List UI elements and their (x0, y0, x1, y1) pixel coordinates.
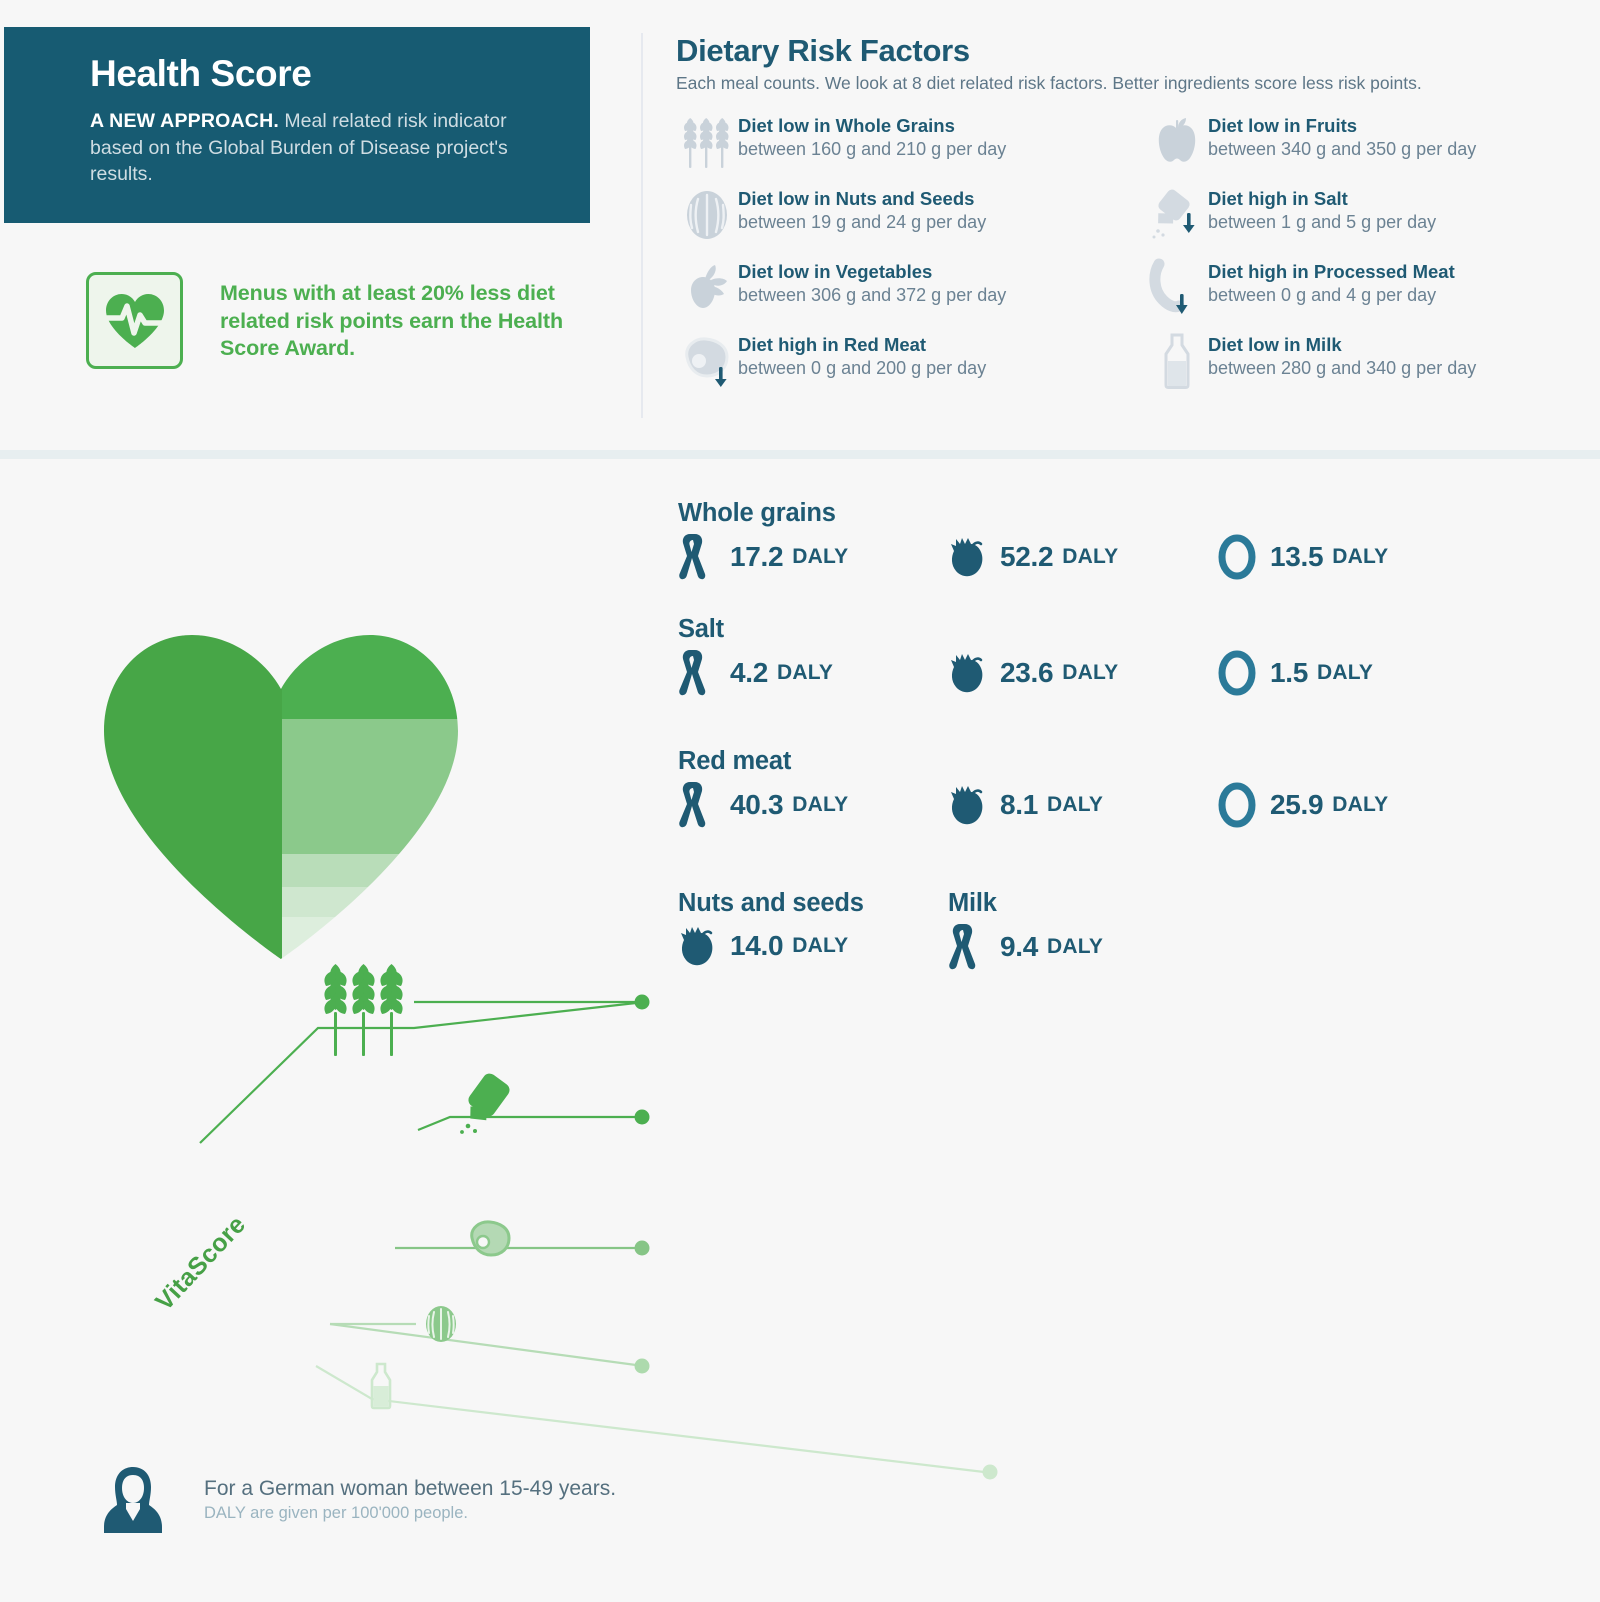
daly-group-red-meat: Red meat 40.3 DALY 8.1 DALY (678, 747, 1488, 828)
risk-factor-name: Diet low in Fruits (1208, 115, 1476, 137)
daly-row: 17.2 DALY 52.2 DALY 13.5 DALY (678, 534, 1488, 580)
daly-value: 40.3 (730, 789, 783, 821)
diabetes-ring-icon (1218, 534, 1264, 580)
daly-cell-cardiovascular: 52.2 DALY (948, 535, 1218, 579)
milk-bottle-icon-green (372, 1364, 390, 1408)
risk-factor-name: Diet low in Vegetables (738, 261, 1006, 283)
daly-group-label: Milk (948, 889, 1218, 918)
risk-factor-text: Diet high in Salt between 1 g and 5 g pe… (1208, 184, 1436, 234)
daly-unit: DALY (1332, 545, 1388, 569)
daly-unit: DALY (777, 661, 833, 685)
risk-factor-item: Diet high in Red Meat between 0 g and 20… (676, 330, 1146, 403)
daly-unit: DALY (792, 545, 848, 569)
daly-group-label: Salt (678, 615, 1488, 644)
vitascore-section: VitaScore (0, 459, 1600, 1143)
daly-group-milk: Milk 9.4 DALY (948, 889, 1218, 970)
dietary-risk-factors-title: Dietary Risk Factors (676, 33, 1576, 69)
heart-icon (948, 783, 994, 827)
daly-group-label: Nuts and seeds (678, 889, 948, 918)
heart-pulse-icon (104, 293, 166, 349)
infographic-page: Health Score A NEW APPROACH. Meal relate… (0, 0, 1600, 1143)
risk-factor-name: Diet high in Red Meat (738, 334, 986, 356)
daly-value: 17.2 (730, 541, 783, 573)
daly-cell-cardiovascular: 23.6 DALY (948, 651, 1218, 695)
daly-value: 9.4 (1000, 931, 1038, 963)
connector-whole-grains (200, 1003, 636, 1143)
risk-factor-range: between 340 g and 350 g per day (1208, 138, 1476, 161)
vertical-divider (641, 33, 643, 418)
down-arrow-icon (1183, 213, 1195, 233)
daly-value: 1.5 (1270, 657, 1308, 689)
daly-unit: DALY (792, 793, 848, 817)
page-title: Health Score (90, 55, 556, 94)
daly-value: 52.2 (1000, 541, 1053, 573)
risk-factor-range: between 280 g and 340 g per day (1208, 357, 1476, 380)
daly-cell-cancer: 9.4 DALY (948, 924, 1218, 970)
daly-group-salt: Salt 4.2 DALY 23.6 DALY (678, 615, 1488, 696)
heart-band-whole-grains (282, 627, 466, 719)
heart-band-red-meat (282, 854, 466, 887)
footer-note: For a German woman between 15-49 years. … (96, 1461, 616, 1540)
risk-factor-name: Diet low in Nuts and Seeds (738, 188, 986, 210)
risk-factor-text: Diet low in Nuts and Seeds between 19 g … (738, 184, 986, 234)
footer-line-1: For a German woman between 15-49 years. (204, 1476, 616, 1501)
daly-cell-cancer: 4.2 DALY (678, 650, 948, 696)
risk-factor-column-left: Diet low in Whole Grains between 160 g a… (676, 111, 1146, 403)
award-text: Menus with at least 20% less diet relate… (220, 280, 590, 363)
heart-icon (948, 651, 994, 695)
daly-cell-diabetes: 13.5 DALY (1218, 534, 1488, 580)
risk-factor-name: Diet low in Milk (1208, 334, 1476, 356)
walnut-icon (676, 184, 738, 246)
health-score-panel: Health Score A NEW APPROACH. Meal relate… (4, 27, 590, 223)
daly-group-whole-grains: Whole grains 17.2 DALY 52.2 DALY (678, 499, 1488, 580)
daly-cell-cancer: 17.2 DALY (678, 534, 948, 580)
risk-factor-range: between 0 g and 200 g per day (738, 357, 986, 380)
risk-factor-text: Diet low in Fruits between 340 g and 350… (1208, 111, 1476, 161)
saltshaker-icon (1146, 184, 1208, 246)
connector-dot-salt (635, 1110, 650, 1125)
daly-cell-diabetes: 25.9 DALY (1218, 782, 1488, 828)
health-score-award: Menus with at least 20% less diet relate… (86, 272, 590, 369)
risk-factor-range: between 1 g and 5 g per day (1208, 211, 1436, 234)
vitascore-heart-chart (96, 627, 466, 967)
connector-salt (418, 1117, 636, 1130)
risk-factor-text: Diet low in Whole Grains between 160 g a… (738, 111, 1006, 161)
daly-cell-cardiovascular: 14.0 DALY (678, 924, 948, 968)
connector-milk (316, 1366, 984, 1472)
award-badge (86, 272, 183, 369)
diabetes-ring-icon (1218, 650, 1264, 696)
daly-unit: DALY (1062, 661, 1118, 685)
daly-value: 8.1 (1000, 789, 1038, 821)
daly-group-nuts-seeds: Nuts and seeds 14.0 DALY (678, 889, 948, 968)
dietary-risk-factors-subtitle: Each meal counts. We look at 8 diet rela… (676, 73, 1576, 95)
steak-icon (676, 330, 738, 392)
daly-value: 25.9 (1270, 789, 1323, 821)
milk-bottle-icon (1146, 330, 1208, 392)
daly-value: 14.0 (730, 930, 783, 962)
daly-unit: DALY (1332, 793, 1388, 817)
risk-factor-text: Diet high in Processed Meat between 0 g … (1208, 257, 1455, 307)
daly-unit: DALY (1062, 545, 1118, 569)
daly-value: 23.6 (1000, 657, 1053, 689)
risk-factor-item: Diet high in Processed Meat between 0 g … (1146, 257, 1566, 330)
risk-factor-item: Diet low in Milk between 280 g and 340 g… (1146, 330, 1566, 403)
heart-left-half (96, 627, 282, 967)
risk-factor-text: Diet high in Red Meat between 0 g and 20… (738, 330, 986, 380)
wheat-icon-green (324, 964, 402, 1056)
risk-factor-range: between 19 g and 24 g per day (738, 211, 986, 234)
connector-nuts-seeds (330, 1324, 636, 1365)
heart-band-milk (282, 917, 466, 967)
daly-unit: DALY (1317, 661, 1373, 685)
risk-factor-text: Diet low in Milk between 280 g and 340 g… (1208, 330, 1476, 380)
risk-factor-item: Diet low in Fruits between 340 g and 350… (1146, 111, 1566, 184)
risk-factor-item: Diet low in Vegetables between 306 g and… (676, 257, 1146, 330)
connector-dot-whole-grains (635, 995, 650, 1010)
daly-unit: DALY (792, 934, 848, 958)
daly-value: 13.5 (1270, 541, 1323, 573)
risk-factor-range: between 0 g and 4 g per day (1208, 284, 1455, 307)
risk-factor-name: Diet low in Whole Grains (738, 115, 1006, 137)
footer-line-2: DALY are given per 100'000 people. (204, 1503, 616, 1524)
daly-row: 9.4 DALY (948, 924, 1218, 970)
health-score-description: A NEW APPROACH. Meal related risk indica… (90, 108, 556, 188)
risk-factor-range: between 306 g and 372 g per day (738, 284, 1006, 307)
walnut-icon-green (426, 1306, 456, 1342)
daly-cell-cancer: 40.3 DALY (678, 782, 948, 828)
saltshaker-icon-green (460, 1071, 512, 1134)
heart-icon (678, 924, 724, 968)
risk-factor-column-right: Diet low in Fruits between 340 g and 350… (1146, 111, 1566, 403)
dietary-risk-factors-section: Dietary Risk Factors Each meal counts. W… (676, 33, 1576, 403)
daly-cell-cardiovascular: 8.1 DALY (948, 783, 1218, 827)
risk-factor-item: Diet high in Salt between 1 g and 5 g pe… (1146, 184, 1566, 257)
woman-avatar-icon (96, 1461, 170, 1540)
beet-icon (676, 257, 738, 319)
dietary-risk-factors-grid: Diet low in Whole Grains between 160 g a… (676, 111, 1576, 403)
daly-value: 4.2 (730, 657, 768, 689)
wheat-icon (676, 111, 738, 173)
sausage-icon (1146, 257, 1208, 319)
heart-icon (948, 535, 994, 579)
daly-unit: DALY (1047, 793, 1103, 817)
cancer-ribbon-icon (678, 782, 724, 828)
risk-factor-item: Diet low in Nuts and Seeds between 19 g … (676, 184, 1146, 257)
daly-row: 4.2 DALY 23.6 DALY 1.5 DALY (678, 650, 1488, 696)
steak-icon-green (472, 1222, 509, 1255)
daly-group-label: Whole grains (678, 499, 1488, 528)
cancer-ribbon-icon (678, 650, 724, 696)
risk-factor-item: Diet low in Whole Grains between 160 g a… (676, 111, 1146, 184)
risk-factor-text: Diet low in Vegetables between 306 g and… (738, 257, 1006, 307)
connector-dot-nuts-seeds (635, 1359, 650, 1374)
diabetes-ring-icon (1218, 782, 1264, 828)
daly-cell-diabetes: 1.5 DALY (1218, 650, 1488, 696)
daly-unit: DALY (1047, 935, 1103, 959)
heart-band-nuts-seeds (282, 887, 466, 917)
footer-text: For a German woman between 15-49 years. … (204, 1476, 616, 1525)
daly-row: 40.3 DALY 8.1 DALY 25.9 DALY (678, 782, 1488, 828)
horizontal-divider (0, 450, 1600, 459)
cancer-ribbon-icon (678, 534, 724, 580)
connector-dot-red-meat (635, 1241, 650, 1256)
risk-factor-range: between 160 g and 210 g per day (738, 138, 1006, 161)
heart-band-salt (282, 719, 466, 854)
risk-factor-name: Diet high in Processed Meat (1208, 261, 1455, 283)
cancer-ribbon-icon (948, 924, 994, 970)
daly-group-label: Red meat (678, 747, 1488, 776)
daly-row: 14.0 DALY (678, 924, 948, 968)
connector-dot-milk (983, 1465, 998, 1480)
risk-factor-name: Diet high in Salt (1208, 188, 1436, 210)
vitascore-label: VitaScore (150, 1210, 252, 1316)
health-score-lead: A NEW APPROACH. (90, 110, 279, 132)
apple-icon (1146, 111, 1208, 173)
